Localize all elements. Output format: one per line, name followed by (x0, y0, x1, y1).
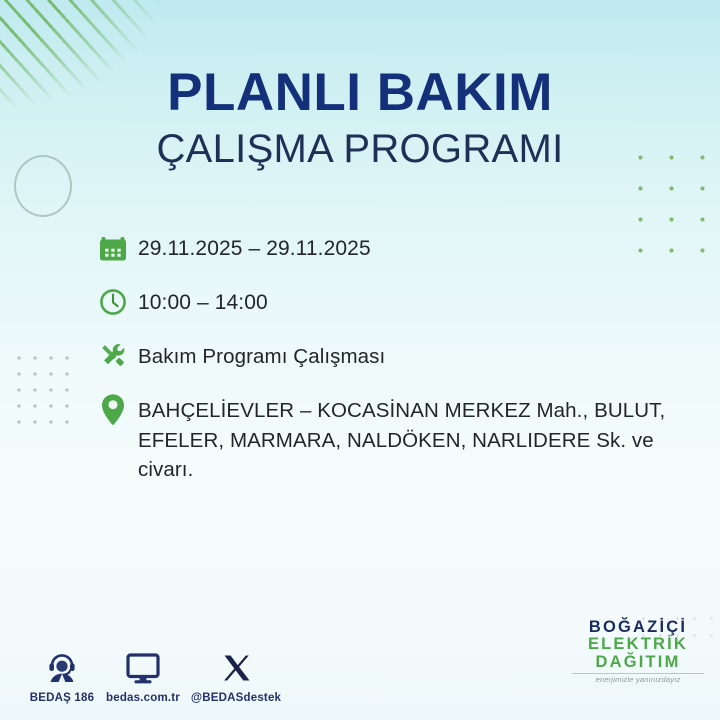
dot-grid-left-decoration (10, 349, 74, 431)
page-subtitle: ÇALIŞMA PROGRAMI (0, 127, 720, 171)
contact-phone[interactable]: BEDAŞ 186 (22, 646, 102, 704)
contact-social-label: @BEDASdestek (191, 692, 281, 704)
info-row-date: 29.11.2025 – 29.11.2025 (96, 228, 694, 268)
contact-website[interactable]: bedas.com.tr (104, 646, 182, 704)
footer: BEDAŞ 186 bedas.com.tr @BEDASdestek BOĞA… (0, 634, 720, 706)
info-row-date-text: 29.11.2025 – 29.11.2025 (138, 228, 371, 264)
logo-line-2: ELEKTRİK (572, 636, 704, 653)
contact-website-label: bedas.com.tr (106, 692, 180, 704)
logo-tagline: enerjimizle yanınızdayız (572, 673, 704, 684)
page-title: PLANLI BAKIM (0, 66, 720, 119)
x-twitter-icon (218, 646, 254, 686)
info-list: 29.11.2025 – 29.11.2025 10:00 – 14:00 (96, 228, 694, 499)
planned-maintenance-poster: PLANLI BAKIM ÇALIŞMA PROGRAMI (0, 0, 720, 720)
info-row-time: 10:00 – 14:00 (96, 282, 694, 322)
logo-line-3: DAĞITIM (572, 654, 704, 671)
info-row-location-text: BAHÇELİEVLER – KOCASİNAN MERKEZ Mah., BU… (138, 390, 694, 485)
support-agent-icon (43, 646, 81, 686)
calendar-icon (96, 228, 138, 268)
tools-icon (96, 336, 138, 376)
info-row-location: BAHÇELİEVLER – KOCASİNAN MERKEZ Mah., BU… (96, 390, 694, 485)
contact-social[interactable]: @BEDASdestek (184, 646, 288, 704)
company-logo: BOĞAZİÇİ ELEKTRİK DAĞITIM enerjimizle ya… (572, 619, 704, 684)
logo-line-1: BOĞAZİÇİ (572, 619, 704, 636)
info-row-work-type: Bakım Programı Çalışması (96, 336, 694, 376)
contact-phone-label: BEDAŞ 186 (30, 692, 94, 704)
map-pin-icon (96, 390, 138, 430)
clock-icon (96, 282, 138, 322)
info-row-time-text: 10:00 – 14:00 (138, 282, 268, 318)
info-row-work-type-text: Bakım Programı Çalışması (138, 336, 385, 372)
monitor-icon (123, 646, 163, 686)
